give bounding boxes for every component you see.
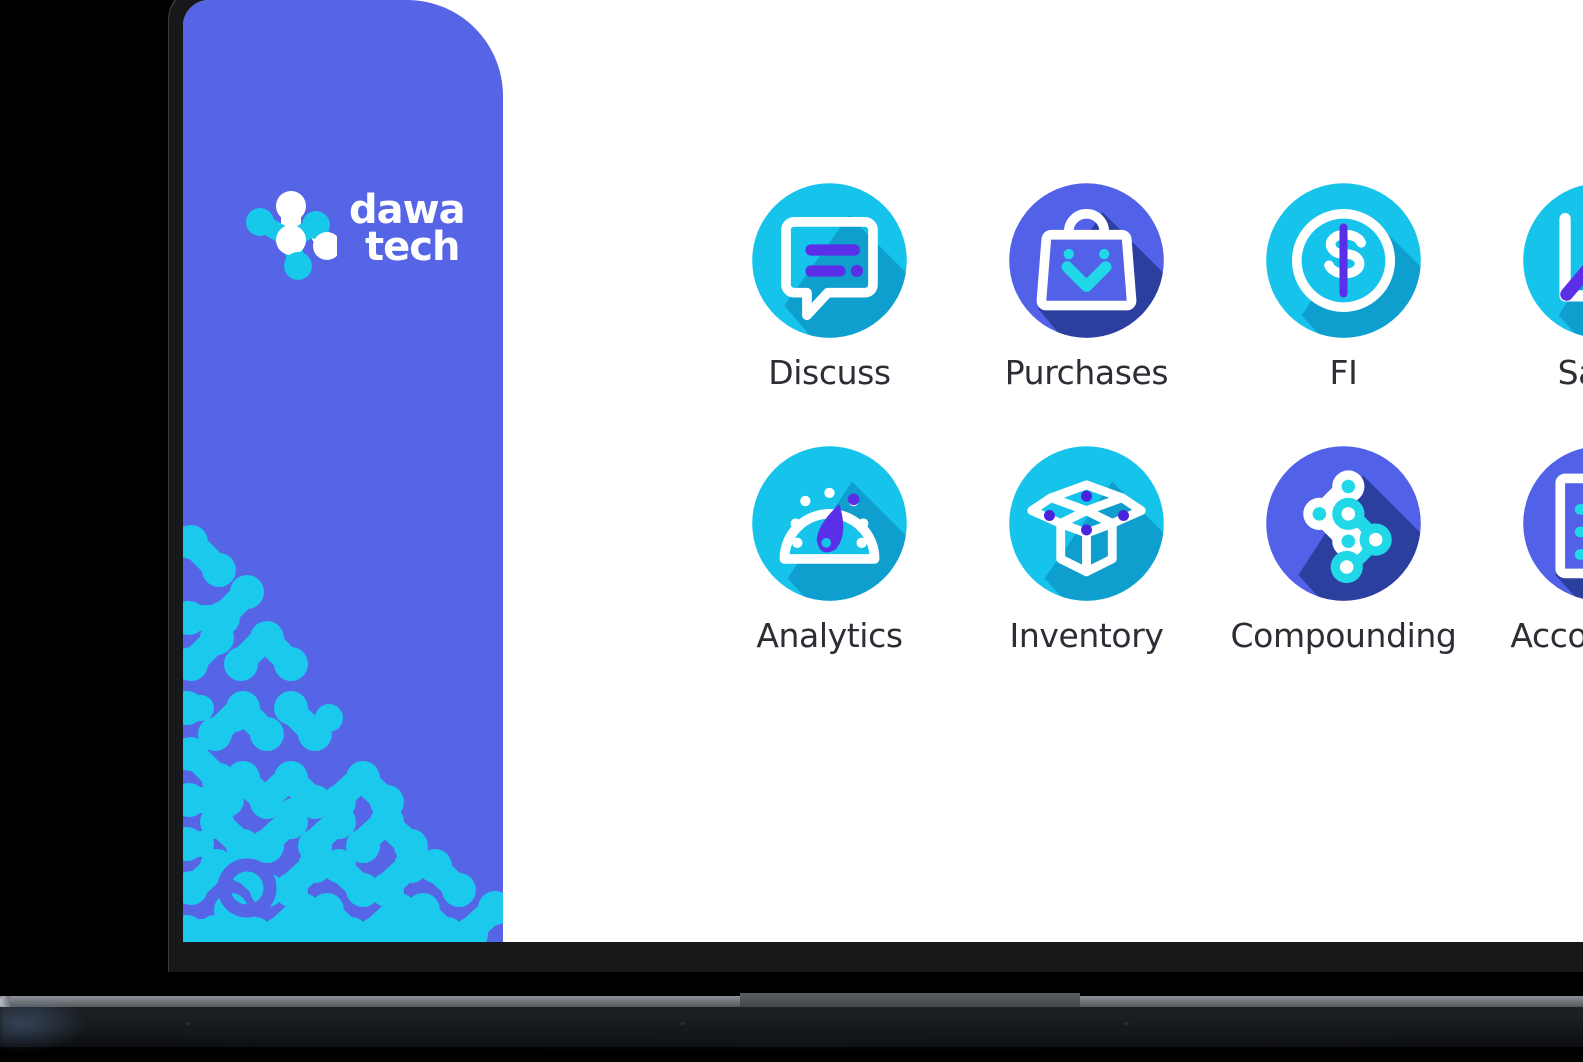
speech-bubble-icon[interactable] (749, 180, 910, 341)
app-label: Sales (1558, 353, 1583, 392)
app-label: Analytics (756, 616, 902, 655)
laptop-base-foot (186, 1022, 191, 1025)
app-row: Analytics (701, 443, 1583, 655)
shopping-bag-icon[interactable] (1006, 180, 1167, 341)
app-tile-inventory[interactable]: Inventory (958, 443, 1215, 655)
brand-name-line2: tech (365, 229, 465, 266)
app-tile-sales[interactable]: Sales (1472, 180, 1583, 392)
app-row: Discuss (701, 180, 1583, 392)
app-launcher-grid: Discuss (701, 180, 1583, 655)
dollar-coin-icon[interactable] (1263, 180, 1424, 341)
app-label: Compounding (1231, 616, 1457, 655)
app-label: Accounting (1510, 616, 1583, 655)
laptop-base-shadow (0, 1030, 1583, 1052)
brand-lockup: dawa tech (209, 176, 477, 296)
molecule-nodes-icon (241, 188, 337, 284)
screenshot-scene: dawa tech (0, 0, 1583, 1062)
brand-wordmark: dawa tech (349, 192, 465, 266)
open-box-icon[interactable] (1006, 443, 1167, 604)
growth-chart-arrow-icon[interactable] (1520, 180, 1583, 341)
app-label: Inventory (1009, 616, 1163, 655)
app-label: FI (1330, 353, 1358, 392)
app-tile-compounding[interactable]: Compounding (1215, 443, 1472, 655)
laptop-base-foot (1124, 1022, 1129, 1025)
molecule-nodes-icon[interactable] (1263, 443, 1424, 604)
laptop-base-foot (680, 1022, 685, 1025)
app-sidebar: dawa tech (183, 0, 503, 942)
molecule-pattern-decoration (183, 522, 503, 942)
app-label: Discuss (768, 353, 890, 392)
app-tile-discuss[interactable]: Discuss (701, 180, 958, 392)
app-tile-analytics[interactable]: Analytics (701, 443, 958, 655)
app-tile-accounting[interactable]: Accounting (1472, 443, 1583, 655)
document-lines-icon[interactable] (1520, 443, 1583, 604)
laptop-screen: dawa tech (183, 0, 1583, 942)
app-tile-purchases[interactable]: Purchases (958, 180, 1215, 392)
app-label: Purchases (1005, 353, 1168, 392)
gauge-speedometer-icon[interactable] (749, 443, 910, 604)
app-tile-fi[interactable]: FI (1215, 180, 1472, 392)
laptop-corner-glare (0, 1004, 90, 1054)
